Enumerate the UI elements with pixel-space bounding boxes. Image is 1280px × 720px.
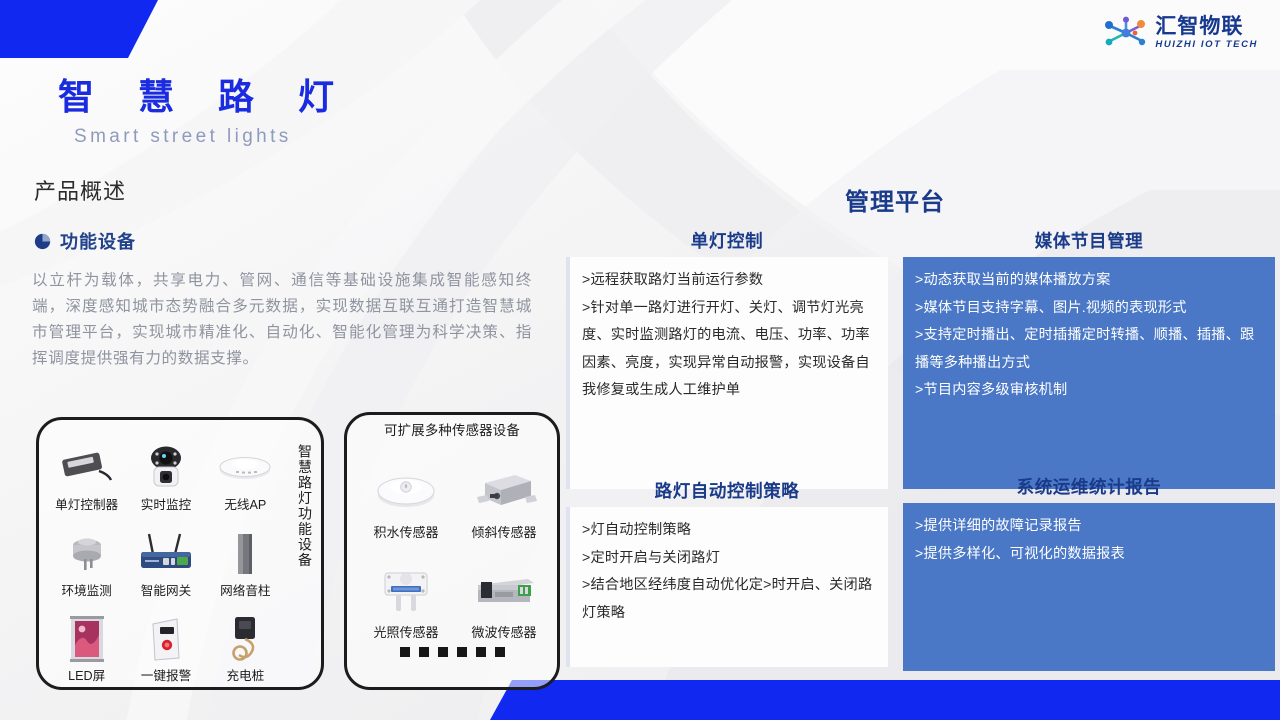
card-media-program-management: 媒体节目管理 >动态获取当前的媒体播放方案 >媒体节目支持字幕、图片.视频的表现… bbox=[903, 228, 1275, 489]
sensor-square-markers bbox=[347, 647, 557, 657]
water-level-sensor-icon bbox=[373, 463, 439, 519]
card-line: >动态获取当前的媒体播放方案 bbox=[915, 267, 1265, 295]
card-body: >远程获取路灯当前运行参数 >针对单一路灯进行开灯、关灯、调节灯光亮度、实时监测… bbox=[566, 257, 888, 489]
device-label: 网络音柱 bbox=[220, 580, 270, 599]
network-speaker-icon bbox=[232, 530, 258, 578]
card-auto-control-strategy: 路灯自动控制策略 >灯自动控制策略 >定时开启与关闭路灯 >结合地区经纬度自动优… bbox=[566, 478, 888, 667]
card-body: >提供详细的故障记录报告 >提供多样化、可视化的数据报表 bbox=[903, 503, 1275, 671]
charging-pile-icon bbox=[224, 615, 266, 663]
card-body: >灯自动控制策略 >定时开启与关闭路灯 >结合地区经纬度自动优化定>时开启、关闭… bbox=[566, 507, 888, 667]
sensor-panel-heading: 可扩展多种传感器设备 bbox=[347, 419, 557, 439]
sensor-label: 微波传感器 bbox=[471, 622, 536, 641]
bottom-accent-banner bbox=[420, 680, 1280, 720]
sensor-item[interactable]: 积水传感器 bbox=[357, 441, 455, 541]
microwave-sensor-icon bbox=[470, 563, 538, 619]
subsection-functional-devices: 功能设备 bbox=[34, 228, 136, 254]
device-label: 充电桩 bbox=[226, 665, 264, 684]
card-line: >提供多样化、可视化的数据报表 bbox=[915, 541, 1265, 569]
card-line: >结合地区经纬度自动优化定>时开启、关闭路灯策略 bbox=[582, 572, 878, 627]
card-line: >灯自动控制策略 bbox=[582, 517, 878, 545]
device-panel-vertical-label: 智慧路灯功能设备 bbox=[290, 444, 312, 568]
platform-title: 管理平台 bbox=[845, 182, 945, 217]
device-label: 无线AP bbox=[224, 494, 266, 513]
device-label: 实时监控 bbox=[141, 494, 191, 513]
led-screen-icon bbox=[67, 615, 107, 663]
emergency-alarm-icon bbox=[147, 615, 185, 663]
card-title: 系统运维统计报告 bbox=[903, 474, 1275, 499]
device-item[interactable]: 充电桩 bbox=[206, 599, 285, 684]
square-marker bbox=[438, 647, 448, 657]
lamp-controller-icon bbox=[59, 444, 115, 492]
square-marker bbox=[495, 647, 505, 657]
sensor-item[interactable]: 倾斜传感器 bbox=[455, 441, 553, 541]
page-title: 智 慧 路 灯 bbox=[58, 68, 351, 120]
brand-logo: 汇智物联 HUIZHI IOT TECH bbox=[1104, 16, 1258, 50]
sensor-item[interactable]: 微波传感器 bbox=[455, 541, 553, 641]
device-item[interactable]: 一键报警 bbox=[126, 599, 205, 684]
device-label: 环境监测 bbox=[61, 580, 111, 599]
sensor-label: 光照传感器 bbox=[373, 622, 438, 641]
wireless-ap-icon bbox=[216, 444, 274, 492]
card-line: >远程获取路灯当前运行参数 bbox=[582, 267, 878, 295]
device-label: 智能网关 bbox=[141, 580, 191, 599]
card-body: >动态获取当前的媒体播放方案 >媒体节目支持字幕、图片.视频的表现形式 >支持定… bbox=[903, 257, 1275, 489]
square-marker bbox=[457, 647, 467, 657]
logo-text-cn: 汇智物联 bbox=[1155, 16, 1258, 37]
card-title: 单灯控制 bbox=[566, 228, 888, 253]
subsection-label: 功能设备 bbox=[60, 228, 136, 254]
device-grid: 单灯控制器 实时监控 bbox=[47, 428, 285, 684]
device-panel: 单灯控制器 实时监控 bbox=[36, 417, 324, 690]
device-item[interactable]: LED屏 bbox=[47, 599, 126, 684]
card-title: 媒体节目管理 bbox=[903, 228, 1275, 253]
card-line: >媒体节目支持字幕、图片.视频的表现形式 bbox=[915, 295, 1265, 323]
square-marker bbox=[400, 647, 410, 657]
card-line: >节目内容多级审核机制 bbox=[915, 377, 1265, 405]
device-item[interactable]: 网络音柱 bbox=[206, 513, 285, 598]
environment-sensor-icon bbox=[64, 530, 110, 578]
square-marker bbox=[476, 647, 486, 657]
square-marker bbox=[419, 647, 429, 657]
card-title: 路灯自动控制策略 bbox=[566, 478, 888, 503]
sensor-label: 积水传感器 bbox=[373, 522, 438, 541]
device-label: LED屏 bbox=[68, 665, 105, 684]
sensor-item[interactable]: 光照传感器 bbox=[357, 541, 455, 641]
card-line: >支持定时播出、定时插播定时转播、顺播、插播、跟播等多种播出方式 bbox=[915, 322, 1265, 377]
device-item[interactable]: 智能网关 bbox=[126, 513, 205, 598]
logo-text-en: HUIZHI IOT TECH bbox=[1155, 40, 1258, 50]
overview-body-text: 以立杆为载体，共享电力、管网、通信等基础设施集成智能感知终端，深度感知城市态势融… bbox=[32, 268, 532, 372]
device-item[interactable]: 实时监控 bbox=[126, 428, 205, 513]
device-item[interactable]: 单灯控制器 bbox=[47, 428, 126, 513]
sensor-grid: 积水传感器 倾斜传感器 bbox=[357, 441, 553, 641]
molecule-network-icon bbox=[1104, 16, 1148, 50]
card-line: >针对单一路灯进行开灯、关灯、调节灯光亮度、实时监测路灯的电流、电压、功率、功率… bbox=[582, 295, 878, 405]
device-label: 一键报警 bbox=[141, 665, 191, 684]
device-label: 单灯控制器 bbox=[55, 494, 118, 513]
card-line: >定时开启与关闭路灯 bbox=[582, 545, 878, 573]
pie-segment-icon bbox=[34, 233, 51, 250]
cctv-camera-icon bbox=[144, 444, 188, 492]
section-title-overview: 产品概述 bbox=[34, 174, 126, 206]
smart-gateway-icon bbox=[135, 530, 197, 578]
card-line: >提供详细的故障记录报告 bbox=[915, 513, 1265, 541]
top-left-accent-banner bbox=[0, 0, 160, 58]
sensor-label: 倾斜传感器 bbox=[471, 522, 536, 541]
device-item[interactable]: 无线AP bbox=[206, 428, 285, 513]
sensor-panel: 可扩展多种传感器设备 积水传感器 bbox=[344, 412, 560, 690]
card-single-lamp-control: 单灯控制 >远程获取路灯当前运行参数 >针对单一路灯进行开灯、关灯、调节灯光亮度… bbox=[566, 228, 888, 489]
page-subtitle: Smart street lights bbox=[74, 126, 292, 148]
card-ops-statistics-report: 系统运维统计报告 >提供详细的故障记录报告 >提供多样化、可视化的数据报表 bbox=[903, 474, 1275, 671]
device-item[interactable]: 环境监测 bbox=[47, 513, 126, 598]
tilt-sensor-icon bbox=[471, 463, 537, 519]
light-sensor-icon bbox=[375, 563, 437, 619]
